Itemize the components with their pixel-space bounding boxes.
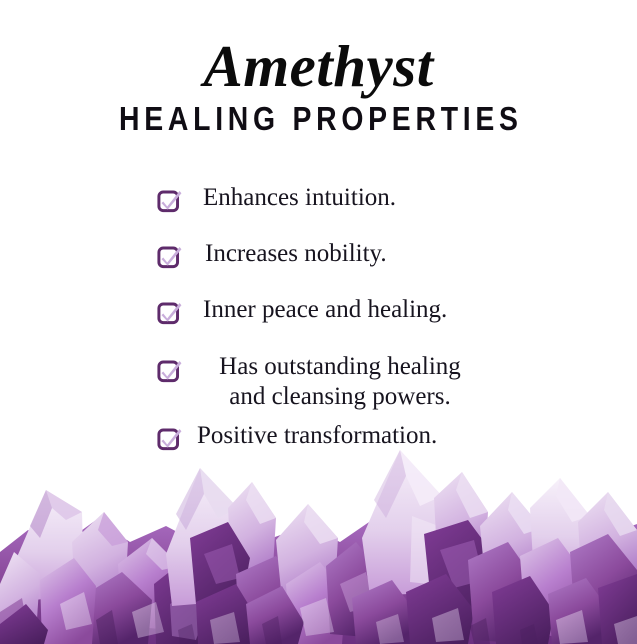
list-item: Has outstanding healing and cleansing po… (0, 352, 637, 418)
checked-checkbox-icon (157, 188, 183, 214)
list-item-label: Positive transformation. (197, 420, 437, 451)
page-title: Amethyst (0, 34, 637, 98)
amethyst-crystal-cluster (0, 434, 637, 644)
list-item: Positive transformation. (0, 420, 637, 460)
checked-checkbox-icon (157, 300, 183, 326)
checked-checkbox-icon (157, 426, 183, 452)
list-item: Enhances intuition. (0, 182, 637, 222)
amethyst-infographic-card: Amethyst HEALING PROPERTIES Enhances int… (0, 0, 637, 644)
list-item-label: Increases nobility. (205, 238, 387, 269)
list-item: Increases nobility. (0, 238, 637, 278)
list-item-label: Inner peace and healing. (203, 294, 447, 325)
list-item: Inner peace and healing. (0, 294, 637, 334)
list-item-label: Enhances intuition. (203, 182, 396, 213)
title-block: Amethyst HEALING PROPERTIES (0, 34, 637, 137)
page-subtitle: HEALING PROPERTIES (45, 101, 593, 137)
checked-checkbox-icon (157, 244, 183, 270)
list-item-label: Has outstanding healing and cleansing po… (150, 352, 530, 412)
